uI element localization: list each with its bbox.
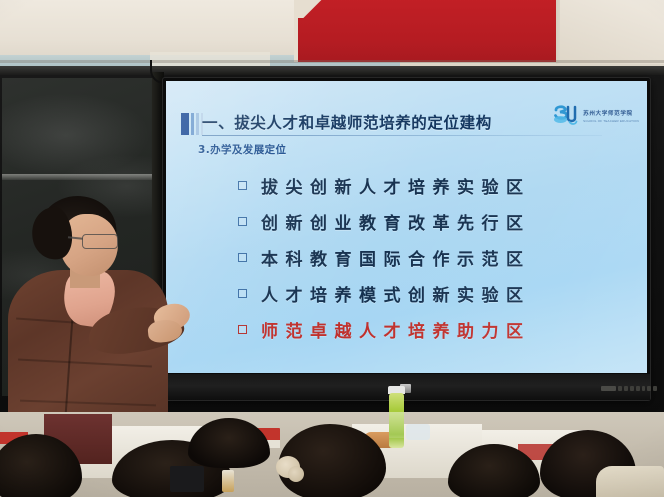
display-button-7[interactable] xyxy=(653,386,657,391)
phone-on-desk xyxy=(170,466,204,492)
list-item-highlighted: 师范卓越人才培养助力区 xyxy=(238,311,638,347)
list-item: 人才培养模式创新实验区 xyxy=(238,275,638,311)
display-button-1[interactable] xyxy=(618,386,622,391)
square-bullet-icon xyxy=(238,217,247,226)
display-button-3[interactable] xyxy=(630,386,634,391)
presentation-slide: 一、拔尖人才和卓越师范培养的定位建构 3.办学及发展定位 苏州大学师范学院 SC… xyxy=(166,81,647,373)
square-bullet-icon xyxy=(238,289,247,298)
accent-bar-2 xyxy=(191,113,194,135)
title-underline xyxy=(202,135,602,136)
title-accent-bars xyxy=(181,113,203,135)
green-tea-bottle xyxy=(388,386,405,448)
accent-bar-3 xyxy=(196,113,199,135)
list-item: 拔尖创新人才培养实验区 xyxy=(238,167,638,203)
bullet-label: 创新创业教育改革先行区 xyxy=(261,209,531,234)
slide-subtitle: 3.办学及发展定位 xyxy=(198,142,286,157)
board-top-trim xyxy=(0,66,664,75)
university-3u-logo-icon xyxy=(553,105,579,127)
square-bullet-icon xyxy=(238,181,247,190)
square-bullet-icon xyxy=(238,253,247,262)
paper-cup xyxy=(406,424,430,440)
logo-chinese-name: 苏州大学师范学院 xyxy=(583,109,639,117)
logo-wordmark: 苏州大学师范学院 SCHOOL OF TEACHER EDUCATION xyxy=(583,109,639,123)
logo-english-name: SCHOOL OF TEACHER EDUCATION xyxy=(583,119,639,123)
display-control-panel[interactable] xyxy=(601,383,657,393)
bottle-label xyxy=(389,412,404,438)
bullet-label: 师范卓越人才培养助力区 xyxy=(261,317,531,342)
bullet-label: 人才培养模式创新实验区 xyxy=(261,281,531,306)
list-item: 本科教育国际合作示范区 xyxy=(238,239,638,275)
ceiling-corner xyxy=(560,0,664,64)
display-ir-sensor xyxy=(601,386,616,391)
small-cup xyxy=(222,470,234,492)
slide-title: 一、拔尖人才和卓越师范培养的定位建构 xyxy=(202,111,492,133)
slide-bullet-list: 拔尖创新人才培养实验区 创新创业教育改革先行区 本科教育国际合作示范区 人才培养… xyxy=(238,167,638,347)
audience-shoulder xyxy=(596,466,664,497)
display-button-4[interactable] xyxy=(636,386,640,391)
university-logo: 苏州大学师范学院 SCHOOL OF TEACHER EDUCATION xyxy=(553,105,639,127)
display-button-5[interactable] xyxy=(642,386,646,391)
wall-seam xyxy=(0,60,664,63)
chalk-rail xyxy=(2,174,162,180)
display-button-2[interactable] xyxy=(624,386,628,391)
display-button-6[interactable] xyxy=(647,386,651,391)
presenter-hand-lower xyxy=(147,318,183,343)
bullet-label: 本科教育国际合作示范区 xyxy=(261,245,531,270)
square-bullet-icon xyxy=(238,325,247,334)
presenter-glasses xyxy=(82,234,118,249)
slide-header: 一、拔尖人才和卓越师范培养的定位建构 3.办学及发展定位 苏州大学师范学院 SC… xyxy=(166,95,647,137)
list-item: 创新创业教育改革先行区 xyxy=(238,203,638,239)
accent-bar-1 xyxy=(181,113,189,135)
red-banner-fold xyxy=(294,0,344,18)
classroom-photo: 一、拔尖人才和卓越师范培养的定位建构 3.办学及发展定位 苏州大学师范学院 SC… xyxy=(0,0,664,497)
hair-clip xyxy=(288,466,304,482)
bullet-label: 拔尖创新人才培养实验区 xyxy=(261,173,531,198)
